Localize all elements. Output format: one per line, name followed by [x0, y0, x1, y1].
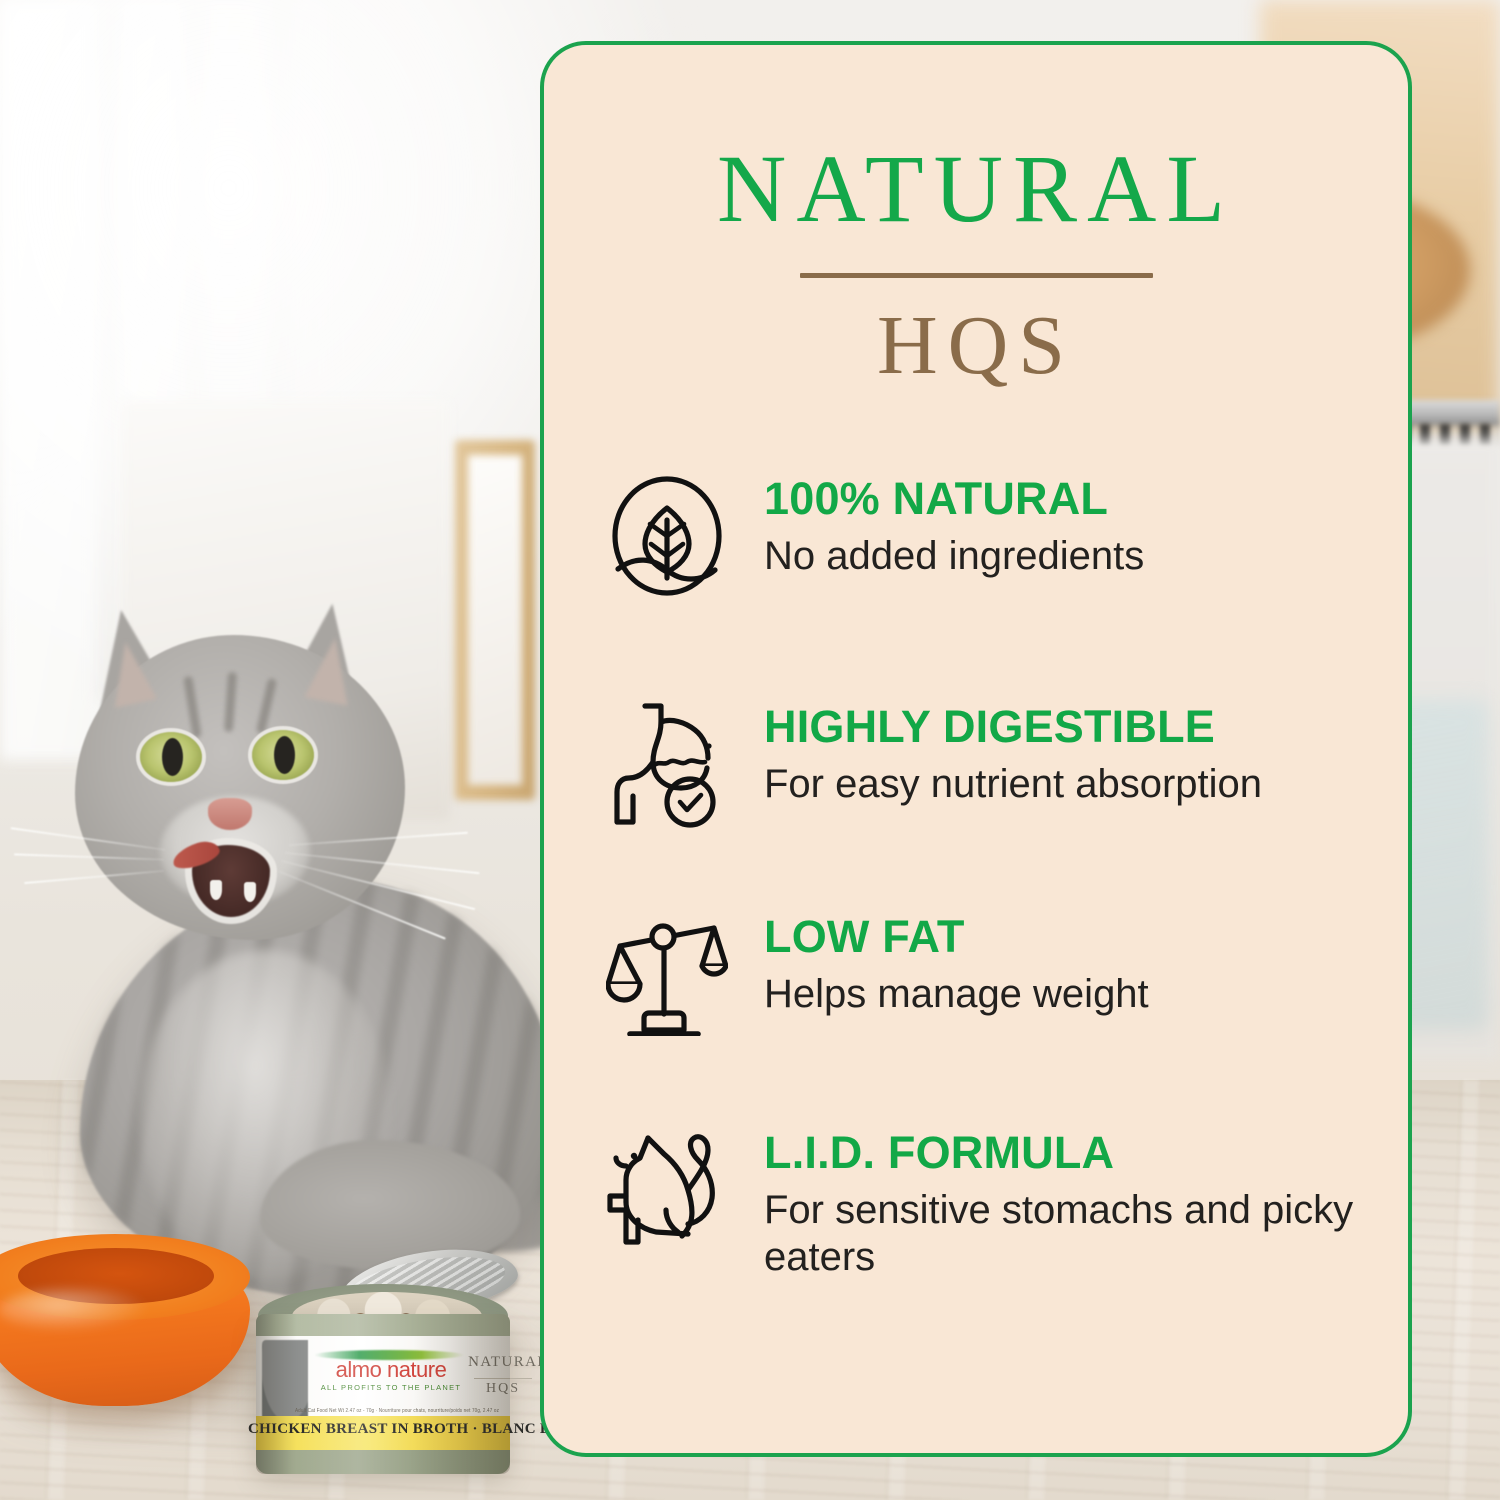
orange-cat-bowl: [0, 1228, 260, 1428]
benefits-card: NATURAL HQS 100% NATURAL No: [540, 41, 1412, 1457]
cat-tooth: [210, 880, 222, 900]
page-subtitle: HQS: [544, 304, 1408, 388]
can-label-range-hqs: HQS: [466, 1381, 540, 1397]
feature-description: For easy nutrient absorption: [764, 761, 1262, 808]
feature-title: L.I.D. FORMULA: [764, 1130, 1356, 1177]
advertisement-image: almo nature ALL PROFITS TO THE PLANET NA…: [0, 0, 1500, 1500]
product-can: almo nature ALL PROFITS TO THE PLANET NA…: [252, 1258, 514, 1488]
page-title: NATURAL: [544, 141, 1408, 237]
feature-title: LOW FAT: [764, 914, 1149, 961]
feature-text: 100% NATURAL No added ingredients: [732, 466, 1144, 580]
can-label-flavor: CHICKEN BREAST IN BROTH · BLANC DE POULE…: [248, 1421, 520, 1438]
bowl-highlight: [0, 1288, 148, 1332]
can-bottom-rim: [256, 1450, 510, 1474]
sitting-cat-icon: [602, 1120, 732, 1260]
can-label-tagline: ALL PROFITS TO THE PLANET: [306, 1383, 476, 1392]
can-label-range-rule: [474, 1378, 532, 1379]
feature-item-digestible: HIGHLY DIGESTIBLE For easy nutrient abso…: [544, 694, 1408, 844]
can-label-brand: almo nature: [306, 1357, 476, 1383]
balance-scale-icon: [602, 904, 732, 1044]
feature-title: HIGHLY DIGESTIBLE: [764, 704, 1262, 751]
can-label-range-natural: NATURAL: [466, 1354, 550, 1371]
feature-item-natural: 100% NATURAL No added ingredients: [544, 466, 1408, 616]
stomach-check-icon: [602, 694, 732, 834]
feature-text: LOW FAT Helps manage weight: [732, 904, 1149, 1018]
cat-photo-subject: [20, 580, 560, 1300]
feature-description: For sensitive stomachs and picky eaters: [764, 1187, 1356, 1281]
cat-pupil-left: [162, 738, 183, 776]
feature-item-low-fat: LOW FAT Helps manage weight: [544, 904, 1408, 1054]
card-header: NATURAL HQS: [544, 45, 1408, 388]
title-divider: [800, 273, 1153, 278]
feature-text: HIGHLY DIGESTIBLE For easy nutrient abso…: [732, 694, 1262, 808]
feature-description: Helps manage weight: [764, 971, 1149, 1018]
can-label-fine-print: Adult Cat Food Net Wt 2.47 oz - 70g · No…: [292, 1408, 502, 1414]
cat-pupil-right: [274, 736, 295, 774]
feature-item-lid-formula: L.I.D. FORMULA For sensitive stomachs an…: [544, 1120, 1408, 1281]
feature-title: 100% NATURAL: [764, 476, 1144, 523]
feature-text: L.I.D. FORMULA For sensitive stomachs an…: [732, 1120, 1356, 1281]
feature-description: No added ingredients: [764, 533, 1144, 580]
leaf-in-circle-icon: [602, 466, 732, 606]
cat-tooth: [244, 882, 256, 902]
benefits-list: 100% NATURAL No added ingredients: [544, 466, 1408, 1281]
